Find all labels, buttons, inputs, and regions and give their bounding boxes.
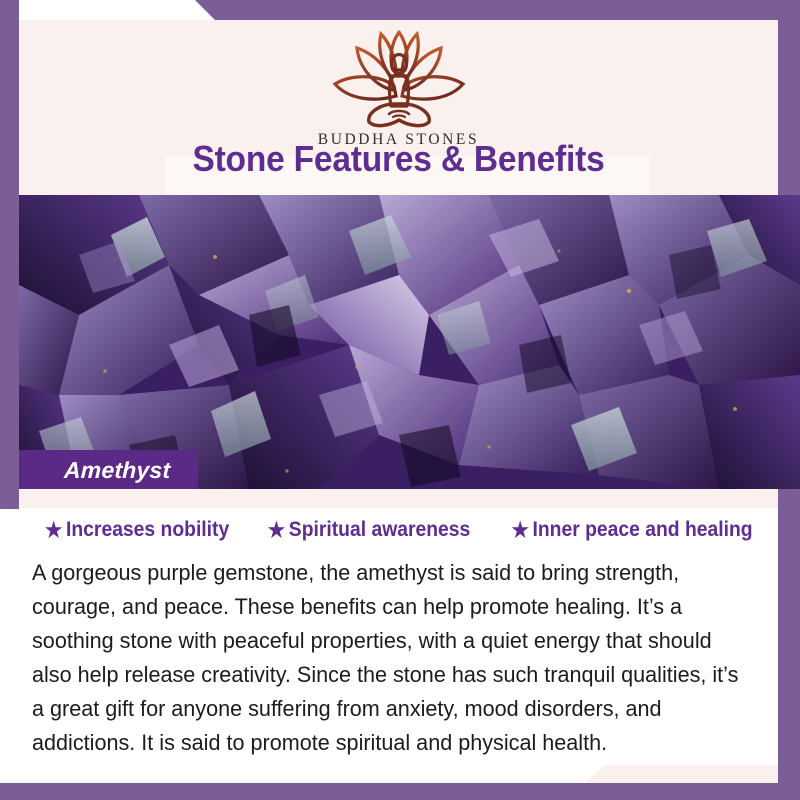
amethyst-crystal-cluster-photo [19, 195, 800, 489]
badge-label: Amethyst [64, 457, 171, 484]
star-icon: ★ [512, 520, 529, 541]
benefit-item-spiritual-awareness: ★ Spiritual awareness [268, 518, 470, 542]
benefits-row: ★ Increases nobility ★ Spiritual awarene… [22, 518, 778, 542]
badge-diagonal-edge [178, 450, 198, 490]
cream-divider-strip [19, 489, 778, 508]
frame-bottom-bar [0, 783, 800, 800]
frame-top-notch [195, 0, 215, 20]
frame-top-bar [215, 0, 800, 20]
status-badge: Amethyst [19, 450, 198, 490]
benefit-label: Increases nobility [66, 518, 229, 542]
star-icon: ★ [268, 520, 285, 541]
star-icon: ★ [45, 520, 62, 541]
brand-logo: BUDDHA STONES [19, 24, 778, 149]
benefit-item-increases-nobility: ★ Increases nobility [45, 518, 229, 542]
badge-body: Amethyst [19, 450, 178, 490]
benefit-item-inner-peace-and-healing: ★ Inner peace and healing [512, 518, 753, 542]
lotus-meditation-icon [323, 24, 475, 130]
benefit-label: Inner peace and healing [533, 518, 753, 542]
infographic-page: BUDDHA STONES Stone Features & Benefits [0, 0, 800, 800]
stone-description: A gorgeous purple gemstone, the amethyst… [32, 556, 747, 760]
benefit-label: Spiritual awareness [289, 518, 470, 542]
frame-bottom-cream-notch [585, 765, 605, 783]
page-title: Stone Features & Benefits [46, 138, 752, 180]
frame-bottom-cream-strip [605, 765, 778, 783]
frame-left-bar [0, 0, 19, 509]
